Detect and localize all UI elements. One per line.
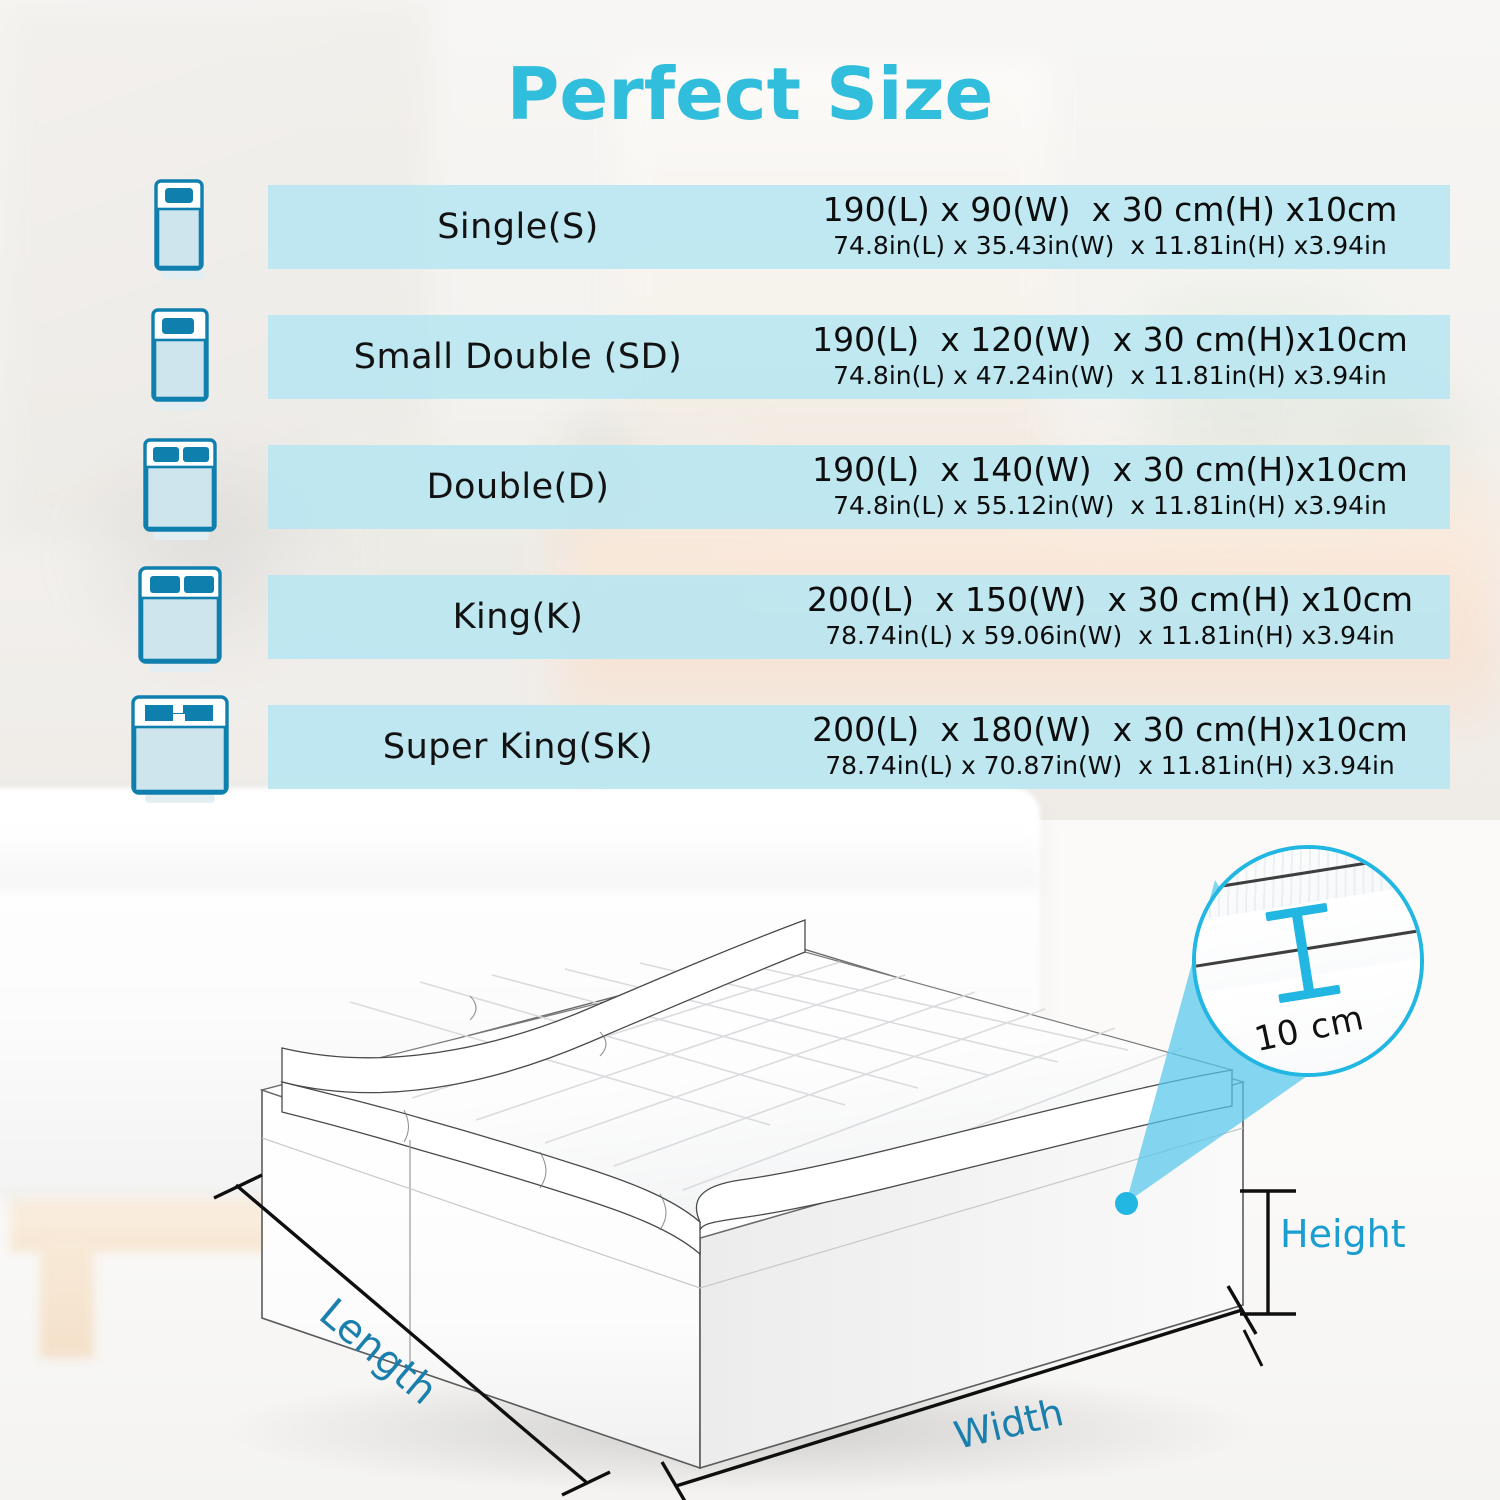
magnifier-anchor-dot: [1115, 1192, 1138, 1215]
height-label: Height: [1280, 1212, 1406, 1256]
magnifier-circle: 10 cm: [1192, 845, 1424, 1077]
magnifier-callout: 10 cm: [0, 0, 1500, 1500]
